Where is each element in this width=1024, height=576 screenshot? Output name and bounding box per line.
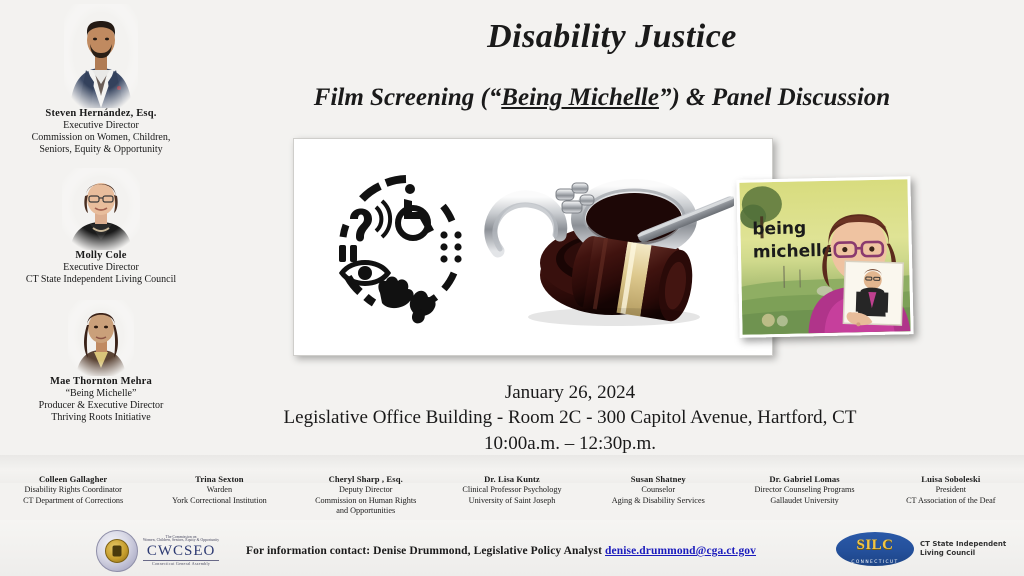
silc-name-line-1: CT State Independent xyxy=(920,540,1006,549)
panelist-line: York Correctional Institution xyxy=(149,496,289,507)
cwcseo-acronym: CWCSEO xyxy=(143,543,219,561)
featured-speaker: Steven Hernández, Esq. Executive Directo… xyxy=(0,4,202,156)
silc-name-line-2: Living Council xyxy=(920,549,1006,558)
speaker-line: Commission on Women, Children, xyxy=(0,132,202,144)
silc-logo: SILC CONNECTICUT CT State Independent Li… xyxy=(836,532,1006,566)
panelist-name: Cheryl Sharp , Esq. xyxy=(296,474,436,485)
cwcseo-bottom-line: Connecticut General Assembly xyxy=(143,561,219,567)
featured-speakers-column: Steven Hernández, Esq. Executive Directo… xyxy=(0,4,202,430)
contact-prefix-text: For information contact: Denise Drummond… xyxy=(246,545,602,557)
speaker-line: Producer & Executive Director xyxy=(0,400,202,412)
speaker-line: “Being Michelle” xyxy=(0,388,202,400)
cwcseo-logo: The Commission on Women, Children, Senio… xyxy=(96,530,219,572)
panelist-line: Deputy Director xyxy=(296,485,436,496)
panelist: Cheryl Sharp , Esq. Deputy Director Comm… xyxy=(293,474,439,517)
silc-state-label: CONNECTICUT xyxy=(836,560,914,565)
panelist-line: President xyxy=(881,485,1021,496)
speaker-line: CT State Independent Living Council xyxy=(0,274,202,286)
panelist-line: Gallaudet University xyxy=(734,496,874,507)
cwcseo-wordmark: The Commission on Women, Children, Senio… xyxy=(143,536,219,567)
speaker-name: Steven Hernández, Esq. xyxy=(0,108,202,120)
event-details: January 26, 2024 Legislative Office Buil… xyxy=(200,380,940,456)
panelist-name: Colleen Gallagher xyxy=(3,474,143,485)
panelist-name: Susan Shatney xyxy=(588,474,728,485)
panelist-line: CT Department of Corrections xyxy=(3,496,143,507)
connecticut-state-seal-icon xyxy=(96,530,138,572)
panelist-line: CT Association of the Deaf xyxy=(881,496,1021,507)
speaker-line: Seniors, Equity & Opportunity xyxy=(0,144,202,156)
panelist-line: Clinical Professor Psychology xyxy=(442,485,582,496)
silc-oval-mark: SILC CONNECTICUT xyxy=(836,532,914,566)
subtitle-prefix: Film Screening (“ xyxy=(314,84,502,111)
panelist-name: Dr. Gabriel Lomas xyxy=(734,474,874,485)
panelist-line: Director Counseling Programs xyxy=(734,485,874,496)
speaker-line: Executive Director xyxy=(0,262,202,274)
panelist: Dr. Gabriel Lomas Director Counseling Pr… xyxy=(731,474,877,506)
event-time: 10:00a.m. – 12:30p.m. xyxy=(200,431,940,456)
hero-image-inner xyxy=(294,139,772,355)
contact-line: For information contact: Denise Drummond… xyxy=(246,545,756,557)
page-title: Disability Justice xyxy=(210,18,1014,56)
panelist: Trina Sexton Warden York Correctional In… xyxy=(146,474,292,506)
panelists-row: Colleen Gallagher Disability Rights Coor… xyxy=(0,474,1024,517)
contact-email-link[interactable]: denise.drummond@cga.ct.gov xyxy=(605,545,756,557)
event-date: January 26, 2024 xyxy=(200,380,940,405)
silc-acronym: SILC xyxy=(836,537,914,554)
handcuffs-and-gavel-photo xyxy=(484,167,734,332)
panelist: Luisa Soboleski President CT Association… xyxy=(878,474,1024,506)
panelist: Susan Shatney Counselor Aging & Disabili… xyxy=(585,474,731,506)
speaker-name: Molly Cole xyxy=(0,250,202,262)
subtitle-suffix: ”) & Panel Discussion xyxy=(659,84,890,111)
flyer-page: Disability Justice Film Screening (“Bein… xyxy=(0,0,1024,576)
disability-justice-hero-image xyxy=(293,138,773,356)
mae-thornton-mehra-portrait xyxy=(68,300,134,376)
panelist-line: Counselor xyxy=(588,485,728,496)
speaker-name: Mae Thornton Mehra xyxy=(0,376,202,388)
panelist-line: University of Saint Joseph xyxy=(442,496,582,507)
accessibility-icons-circle xyxy=(318,161,488,331)
speaker-line: Thriving Roots Initiative xyxy=(0,412,202,424)
panelist-name: Dr. Lisa Kuntz xyxy=(442,474,582,485)
panelist-line: and Opportunities xyxy=(296,506,436,517)
panelist-line: Warden xyxy=(149,485,289,496)
speaker-line: Executive Director xyxy=(0,120,202,132)
featured-speaker: Mae Thornton Mehra “Being Michelle” Prod… xyxy=(0,300,202,424)
panelist: Dr. Lisa Kuntz Clinical Professor Psycho… xyxy=(439,474,585,506)
poster-woman-illustration xyxy=(804,199,914,333)
panelist-line: Disability Rights Coordinator xyxy=(3,485,143,496)
event-location: Legislative Office Building - Room 2C - … xyxy=(200,405,940,430)
panelist-line: Commission on Human Rights xyxy=(296,496,436,507)
subtitle-film-title: Being Michelle xyxy=(501,84,659,111)
panelist: Colleen Gallagher Disability Rights Coor… xyxy=(0,474,146,506)
silc-name-text: CT State Independent Living Council xyxy=(920,540,1006,559)
being-michelle-film-poster: being michelle xyxy=(736,176,913,338)
molly-cole-portrait xyxy=(62,168,140,250)
panelist-line: Aging & Disability Services xyxy=(588,496,728,507)
footer: The Commission on Women, Children, Senio… xyxy=(0,528,1024,576)
seal-inner-medallion xyxy=(105,539,129,563)
panelist-name: Luisa Soboleski xyxy=(881,474,1021,485)
featured-speaker: Molly Cole Executive Director CT State I… xyxy=(0,168,202,286)
panelist-name: Trina Sexton xyxy=(149,474,289,485)
page-subtitle: Film Screening (“Being Michelle”) & Pane… xyxy=(190,84,1014,112)
steven-hernandez-portrait xyxy=(64,4,138,108)
